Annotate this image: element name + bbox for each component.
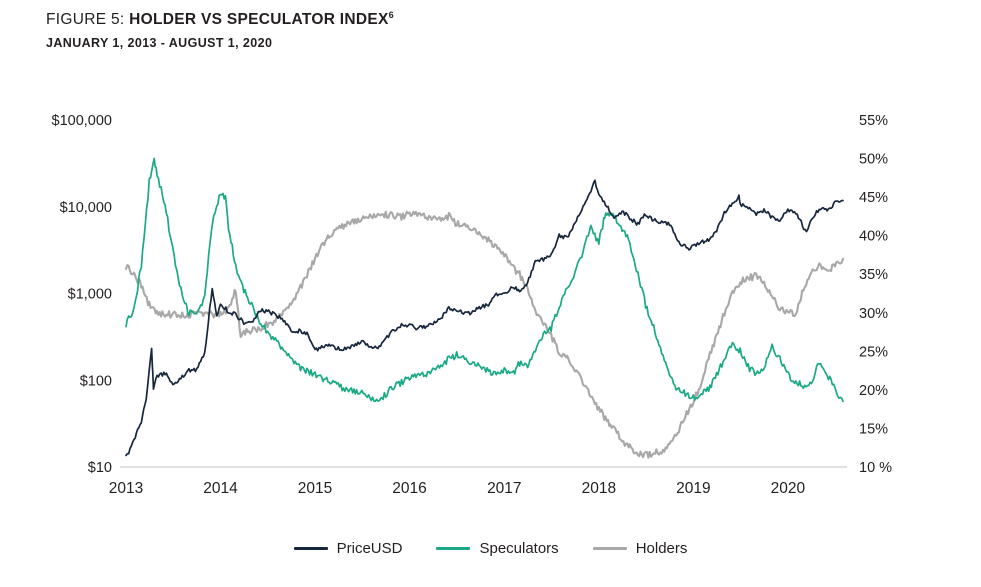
page-title: FIGURE 5: HOLDER VS SPECULATOR INDEX6 (46, 10, 394, 29)
legend-item-holders: Holders (593, 540, 688, 557)
x-axis-tick: 2016 (392, 480, 426, 497)
footnote-marker: 6 (389, 10, 394, 20)
legend-label-holders: Holders (636, 540, 688, 557)
y-axis-left-tick: $10 (88, 460, 112, 476)
x-axis-tick: 2013 (109, 480, 143, 497)
x-axis-tick: 2019 (676, 480, 710, 497)
y-axis-left-tick: $10,000 (60, 200, 112, 216)
series-line-priceusd (126, 180, 843, 455)
series-line-speculators (126, 158, 843, 401)
figure-header: FIGURE 5: HOLDER VS SPECULATOR INDEX6 JA… (46, 10, 394, 50)
legend-swatch-speculators (436, 547, 470, 550)
figure-title: HOLDER VS SPECULATOR INDEX (129, 11, 389, 28)
figure-subtitle: JANUARY 1, 2013 - AUGUST 1, 2020 (46, 36, 394, 50)
legend-item-speculators: Speculators (436, 540, 558, 557)
x-axis-tick: 2020 (771, 480, 806, 497)
y-axis-right-tick: 45% (859, 190, 888, 206)
legend-item-priceusd: PriceUSD (294, 540, 403, 557)
legend-swatch-priceusd (294, 547, 328, 550)
x-axis-tick: 2014 (203, 480, 238, 497)
x-axis-tick: 2018 (582, 480, 616, 497)
y-axis-right-tick: 10 % (859, 460, 892, 476)
chart-legend: PriceUSD Speculators Holders (0, 540, 981, 557)
y-axis-left-tick: $100,000 (52, 113, 112, 129)
x-axis-tick: 2017 (487, 480, 521, 497)
y-axis-right-tick: 35% (859, 267, 888, 283)
legend-label-speculators: Speculators (479, 540, 558, 557)
y-axis-right-tick: 20% (859, 383, 888, 399)
series-line-holders (126, 212, 843, 458)
y-axis-left-tick: $100 (80, 373, 112, 389)
legend-swatch-holders (593, 547, 627, 550)
figure-number: FIGURE 5: (46, 11, 129, 28)
y-axis-right-tick: 50% (859, 152, 888, 168)
x-axis-tick: 2015 (298, 480, 332, 497)
line-chart: $10$100$1,000$10,000$100,00010 %15%20%25… (0, 95, 981, 515)
y-axis-left-tick: $1,000 (68, 287, 112, 303)
chart-canvas: $10$100$1,000$10,000$100,00010 %15%20%25… (0, 95, 981, 515)
y-axis-right-tick: 25% (859, 344, 888, 360)
legend-label-priceusd: PriceUSD (337, 540, 403, 557)
y-axis-right-tick: 30% (859, 306, 888, 322)
y-axis-right-tick: 40% (859, 229, 888, 245)
y-axis-right-tick: 15% (859, 421, 888, 437)
y-axis-right-tick: 55% (859, 113, 888, 129)
